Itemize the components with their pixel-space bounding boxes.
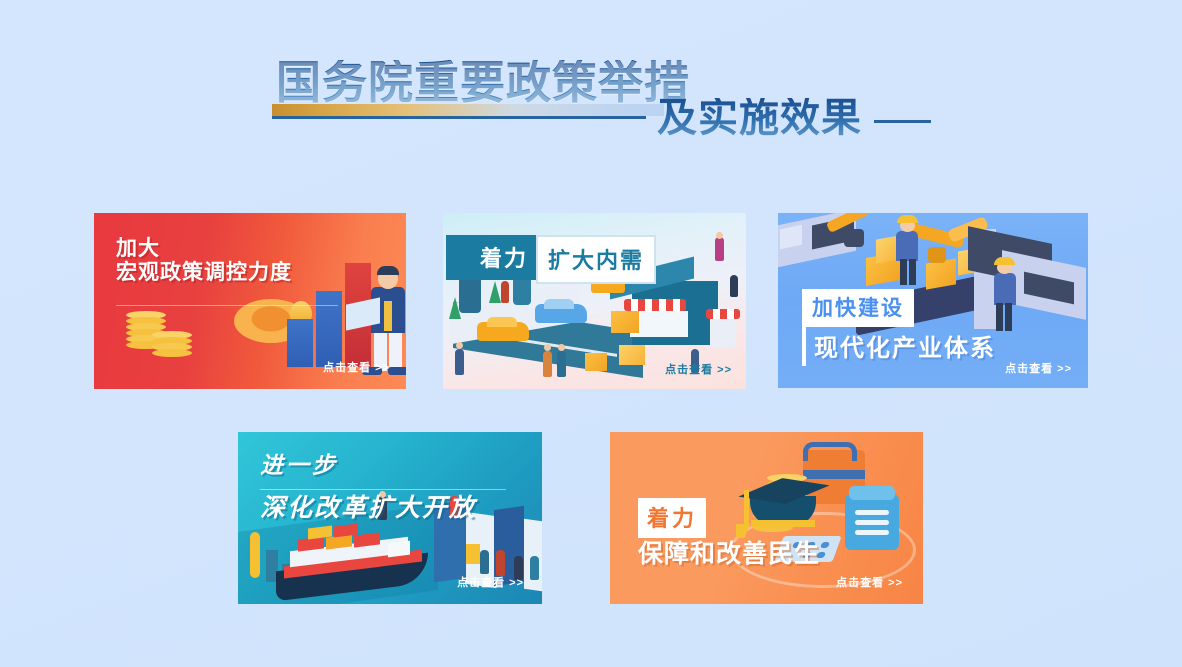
card-cta-link[interactable]: 点击查看 >> [323,359,390,375]
card-title-line2: 深化改革扩大开放 [260,494,476,523]
card-title-rule [260,489,506,490]
subtitle-dash [874,120,931,123]
card-title-tag: 着力 [446,235,537,280]
card-cta-link[interactable]: 点击查看 >> [1005,360,1072,376]
card-title-text: 扩大内需 [536,235,656,284]
card-title: 加大 宏观政策调控力度 [116,237,292,286]
page-header: 国务院重要政策举措 及实施效果 [0,0,1182,190]
policy-card-macro-control[interactable]: 加大 宏观政策调控力度 点击查看 >> [94,213,406,389]
title-gold-underline [272,104,664,116]
card-title-line1: 加大 [116,237,160,260]
policy-card-expand-domestic-demand[interactable]: 着力 扩大内需 点击查看 >> [443,213,746,389]
card-title-line2: 保障和改善民生 [638,540,820,569]
card-title-line2: 现代化产业体系 [802,326,1002,366]
page-subtitle: 及实施效果 [657,98,862,138]
card-cta-link[interactable]: 点击查看 >> [665,361,732,377]
card-title-line1: 加快建设 [802,289,914,327]
card-title-rule [116,305,338,306]
page-title: 国务院重要政策举措 [276,60,690,105]
policy-card-improve-livelihood[interactable]: 着力 保障和改善民生 点击查看 >> [610,432,923,604]
policy-card-reform-opening-up[interactable]: 进一步 深化改革扩大开放 点击查看 >> [238,432,542,604]
card-title-tag: 着力 [638,498,706,538]
title-blue-rule [272,116,646,119]
card-cta-link[interactable]: 点击查看 >> [836,574,903,590]
card-title-line2: 宏观政策调控力度 [116,261,292,284]
card-title-line1: 进一步 [260,452,338,479]
policy-card-modern-industrial-system[interactable]: 加快建设 现代化产业体系 点击查看 >> [778,213,1088,388]
card-cta-link[interactable]: 点击查看 >> [457,574,524,590]
